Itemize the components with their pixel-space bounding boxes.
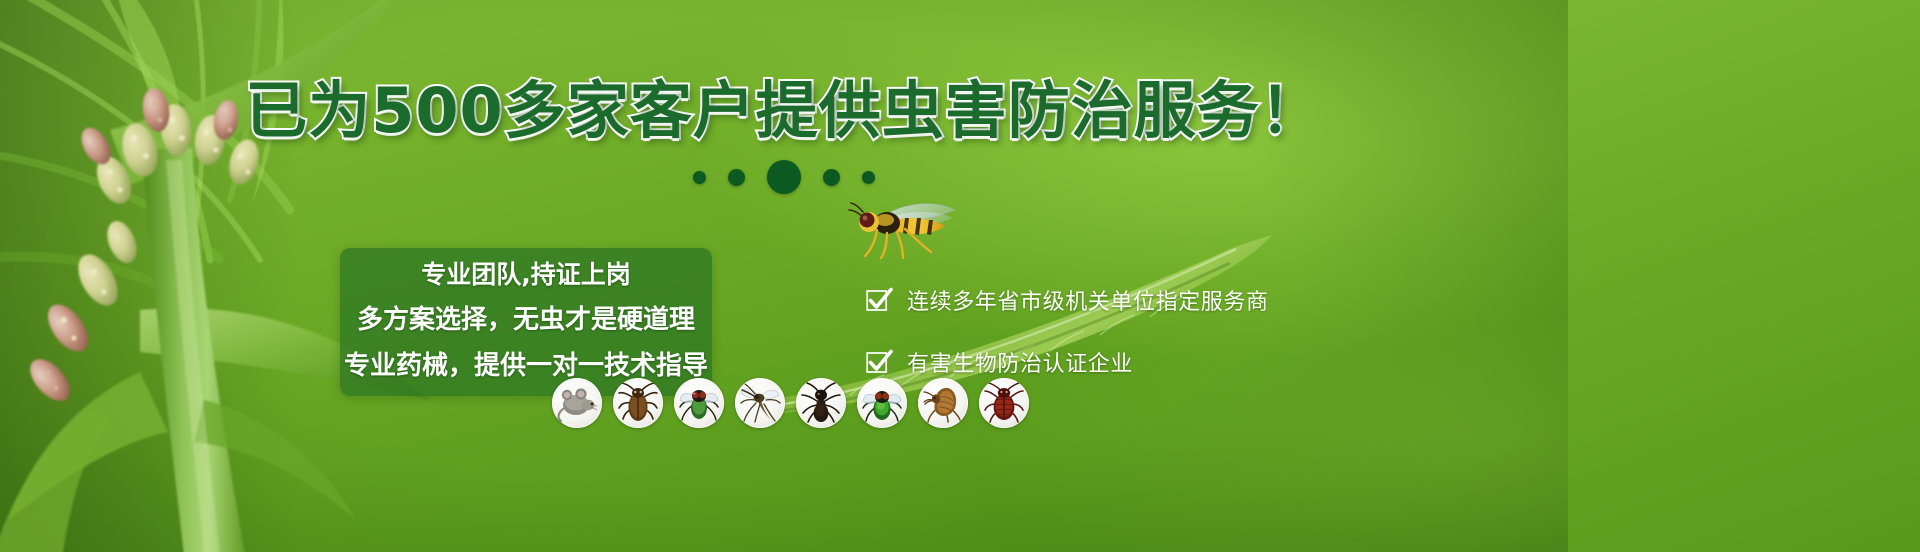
ant-icon[interactable] (796, 378, 846, 428)
checkbox-checked-icon (866, 287, 892, 313)
blowfly-icon[interactable] (857, 378, 907, 428)
pest-control-hero-banner: 已为500多家客户提供虫害防治服务！ 专业团队,持证上岗 多方案选择，无虫才是硬… (0, 0, 1568, 552)
decorative-dot-row (0, 160, 1568, 194)
decorative-dot-large (767, 160, 801, 194)
decorative-dot-medium (823, 169, 840, 186)
feature-label: 连续多年省市级机关单位指定服务商 (907, 284, 1269, 316)
pest-icon-strip (552, 378, 1029, 428)
page-title: 已为500多家客户提供虫害防治服务！ (0, 72, 1568, 150)
fly-insect-photo (845, 198, 965, 260)
housefly-icon[interactable] (674, 378, 724, 428)
mouse-icon[interactable] (552, 378, 602, 428)
cockroach-icon[interactable] (613, 378, 663, 428)
decorative-dot-small (693, 171, 706, 184)
bedbug-icon[interactable] (979, 378, 1029, 428)
flea-icon[interactable] (918, 378, 968, 428)
checkbox-checked-icon (866, 349, 892, 375)
banner-right-fill (1568, 0, 1920, 552)
feature-label: 有害生物防治认证企业 (907, 346, 1133, 378)
feature-item: 连续多年省市级机关单位指定服务商 (866, 276, 1296, 324)
slogan-line-2: 多方案选择，无虫才是硬道理 (340, 297, 712, 343)
decorative-dot-small (862, 171, 875, 184)
mosquito-icon[interactable] (735, 378, 785, 428)
slogan-panel: 专业团队,持证上岗 多方案选择，无虫才是硬道理 专业药械，提供一对一技术指导 (340, 248, 712, 396)
slogan-line-1: 专业团队,持证上岗 (340, 253, 712, 297)
decorative-dot-medium (728, 169, 745, 186)
page-title-text: 已为500多家客户提供虫害防治服务！ (245, 74, 1322, 147)
